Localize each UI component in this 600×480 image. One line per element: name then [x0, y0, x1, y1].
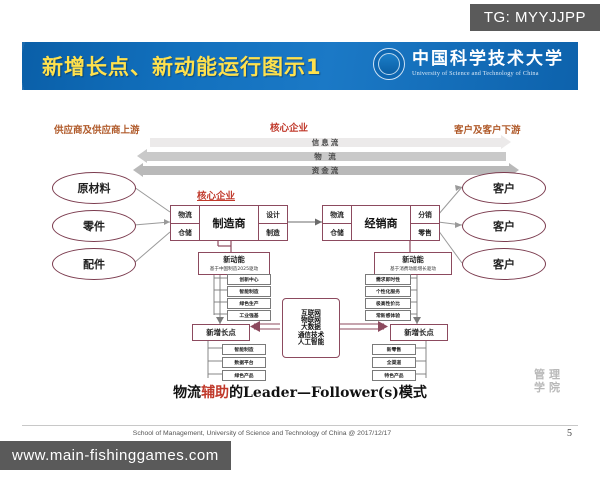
manufacturer-warehouse: 仓储: [171, 224, 199, 241]
technology-enablers-box: 互联网 物联网 大数据 通信技术 人工智能: [282, 298, 340, 358]
footer-text: School of Management, University of Scie…: [22, 430, 502, 437]
watermark-top-right: TG: MYYJJPP: [470, 4, 600, 31]
momentum-box-consumption: 新动能 基于消费动能增长驱动: [374, 252, 452, 275]
flow-capital-label: 资金流: [142, 165, 510, 176]
node-parts: 零件: [52, 210, 136, 242]
caption-post: 的Leader—Follower(s)模式: [229, 385, 427, 401]
core-box-manufacturer: 物流 仓储 制造商 设计 制造: [170, 205, 288, 241]
momentum-subtitle-left: 基于中国制造2025驱动: [210, 266, 258, 272]
university-name-en: University of Science and Technology of …: [412, 71, 564, 77]
node-customer-1: 客户: [462, 172, 546, 204]
momentum-item-left-1: 创新中心: [227, 274, 271, 285]
core-enterprise-label: 核心企业: [197, 188, 235, 202]
caption-pre: 物流: [173, 385, 201, 401]
university-name-cn: 中国科学技术大学: [412, 51, 564, 68]
growth-item-right-2: 全渠道: [372, 357, 416, 368]
growth-item-right-1: 新零售: [372, 344, 416, 355]
university-logo: 中国科学技术大学 University of Science and Techn…: [373, 48, 564, 80]
usrc-circular-seal-icon: [373, 48, 405, 80]
flow-capital: 资金流: [142, 166, 510, 175]
node-customer-2: 客户: [462, 210, 546, 242]
dealer-logistics: 物流: [323, 206, 351, 224]
page-title: 新增长点、新动能运行图示1: [42, 51, 322, 81]
manufacturer-make: 制造: [259, 224, 287, 241]
watermark-bottom-left: www.main-fishinggames.com: [0, 441, 231, 470]
node-accessories: 配件: [52, 248, 136, 280]
header-core: 核心企业: [270, 120, 308, 134]
dealer-warehouse: 仓储: [323, 224, 351, 241]
momentum-item-right-4: 常新感体验: [365, 310, 411, 321]
core-box-dealer: 物流 仓储 经销商 分销 零售: [322, 205, 440, 241]
growth-item-left-2: 数据平台: [222, 357, 266, 368]
momentum-item-right-1: 需求即时性: [365, 274, 411, 285]
slide: TG: MYYJJPP 新增长点、新动能运行图示1 中国科学技术大学 Unive…: [0, 0, 600, 480]
momentum-item-right-3: 极高性价比: [365, 298, 411, 309]
momentum-item-right-2: 个性化服务: [365, 286, 411, 297]
momentum-item-left-2: 智能制造: [227, 286, 271, 297]
seal-char-1: 管: [532, 368, 547, 381]
momentum-item-left-3: 绿色生产: [227, 298, 271, 309]
node-customer-3: 客户: [462, 248, 546, 280]
flow-information-label: 信息流: [150, 137, 502, 148]
momentum-box-manufacturing: 新动能 基于中国制造2025驱动: [198, 252, 270, 275]
footer-divider: [22, 425, 578, 426]
momentum-title-left: 新动能: [223, 255, 245, 265]
growth-point-left: 新增长点: [192, 324, 250, 341]
title-banner: 新增长点、新动能运行图示1 中国科学技术大学 University of Sci…: [22, 42, 578, 90]
flow-logistics-label: 物 流: [146, 151, 506, 162]
growth-point-right: 新增长点: [390, 324, 448, 341]
growth-item-left-1: 智能制造: [222, 344, 266, 355]
node-raw-material: 原材料: [52, 172, 136, 204]
manufacturer-logistics: 物流: [171, 206, 199, 224]
tech-item-5: 人工智能: [298, 339, 324, 346]
momentum-subtitle-right: 基于消费动能增长驱动: [390, 266, 436, 272]
flow-logistics: 物 流: [146, 152, 506, 161]
caption-highlight: 辅助: [201, 385, 229, 401]
dealer-name: 经销商: [352, 206, 410, 240]
diagram-canvas: 供应商及供应商上游 核心企业 客户及客户下游 信息流 物 流 资金流 原材料 零…: [22, 100, 578, 418]
manufacturer-name: 制造商: [200, 206, 258, 240]
header-customer: 客户及客户下游: [454, 122, 521, 136]
growth-item-right-3: 特色产品: [372, 370, 416, 381]
dealer-retail: 零售: [411, 224, 439, 241]
seal-char-2: 理: [547, 368, 562, 381]
header-supplier: 供应商及供应商上游: [54, 122, 140, 136]
growth-item-left-3: 绿色产品: [222, 370, 266, 381]
momentum-title-right: 新动能: [402, 255, 424, 265]
diagram-caption: 物流辅助的Leader—Follower(s)模式: [22, 382, 578, 402]
flow-information: 信息流: [150, 138, 502, 147]
momentum-item-left-4: 工业强基: [227, 310, 271, 321]
manufacturer-design: 设计: [259, 206, 287, 224]
dealer-distribution: 分销: [411, 206, 439, 224]
page-number: 5: [567, 428, 572, 439]
